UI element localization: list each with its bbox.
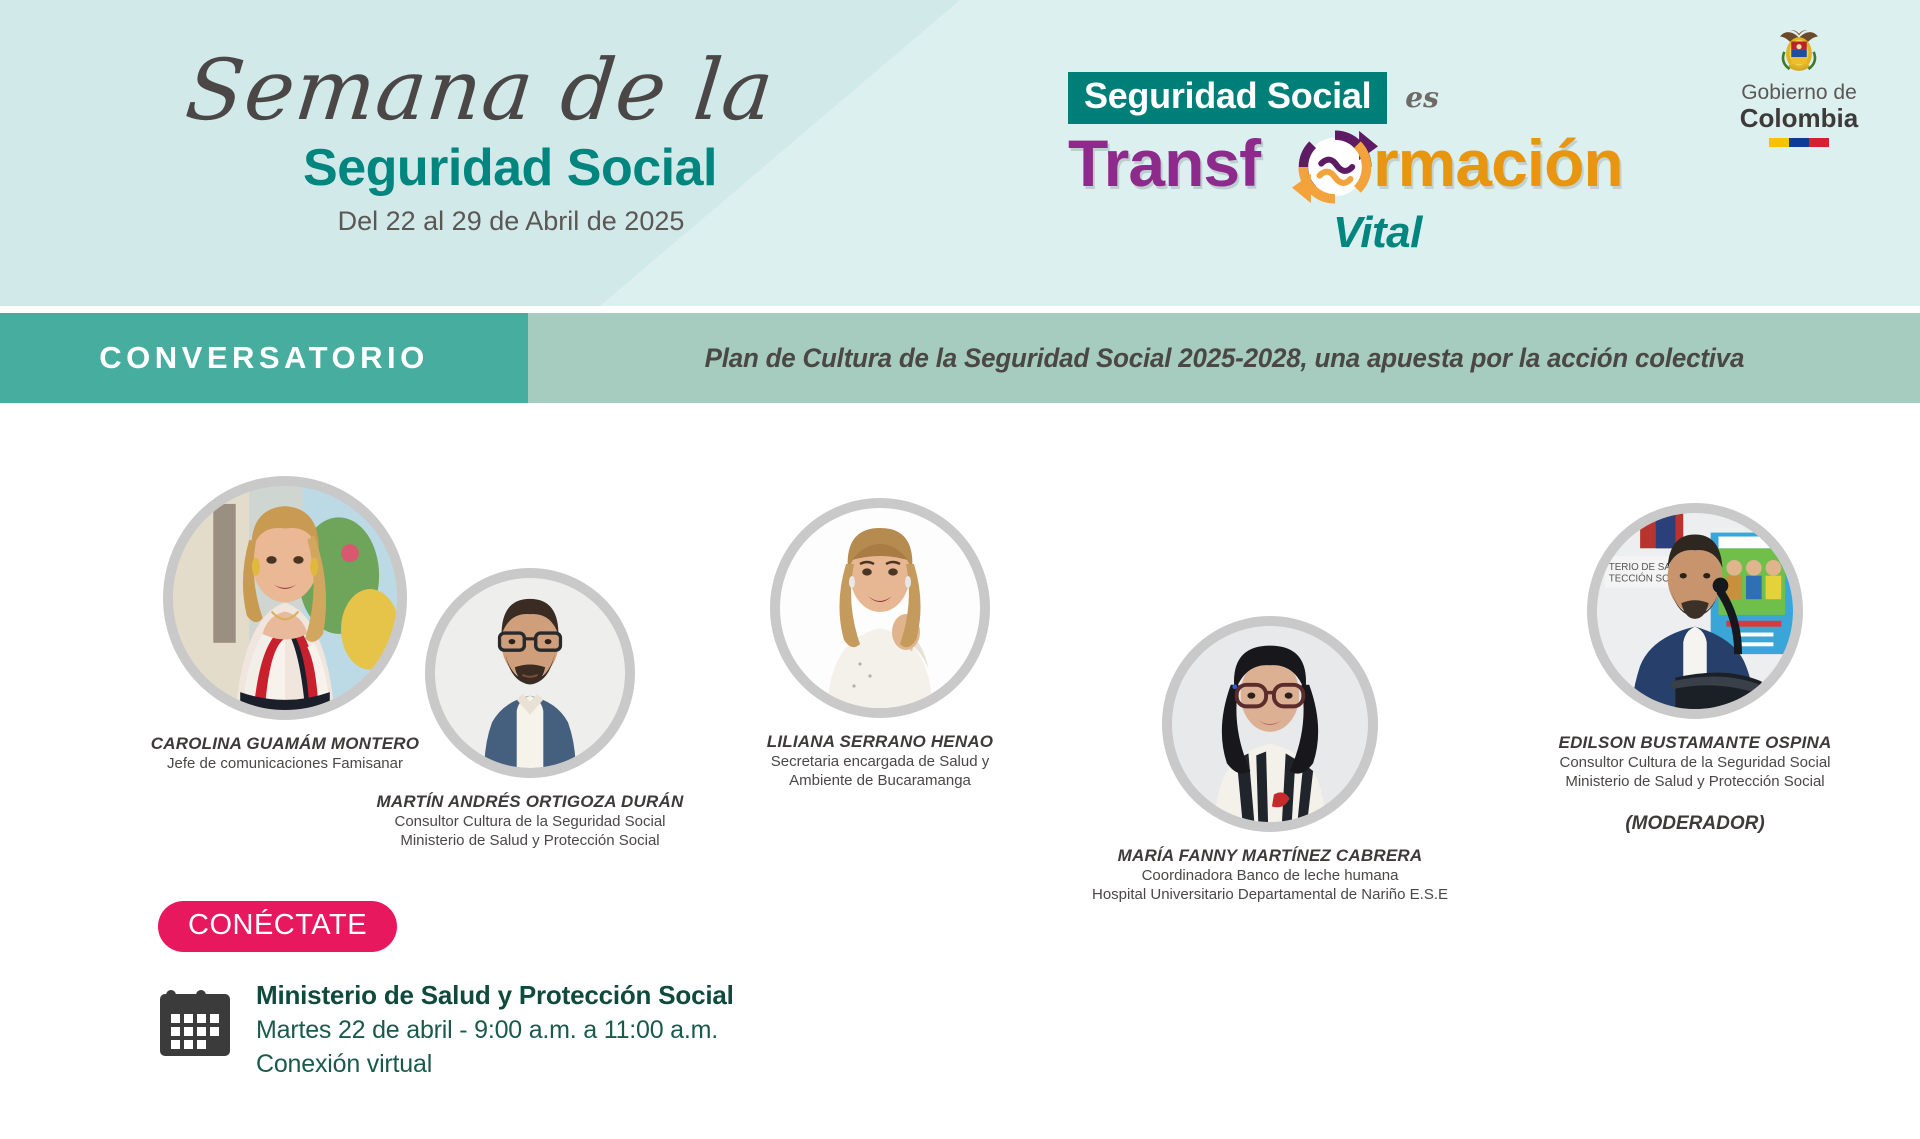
- portrait-martin-photo: [435, 578, 625, 768]
- conectate-org: Ministerio de Salud y Protección Social: [256, 980, 734, 1011]
- speaker-4-role-line-1: Coordinadora Banco de leche humana: [1020, 866, 1520, 885]
- conectate-block: CONÉCTATE Ministerio de Salud y Pro: [158, 901, 734, 1079]
- portrait-edilson: TERIO DE SALUD TECCIÓN SOCIAL: [1587, 503, 1803, 719]
- brand-top-row: Seguridad Social es: [1068, 72, 1688, 124]
- portrait-maria: [1162, 616, 1378, 832]
- speaker-card-4: MARÍA FANNY MARTÍNEZ CABRERA Coordinador…: [1020, 616, 1520, 904]
- event-subtitle: Seguridad Social: [210, 138, 810, 198]
- gobierno-de-colombia-logo: Gobierno de Colombia: [1714, 26, 1884, 147]
- transformacion-vital-logo: Seguridad Social es Transf rmación Vital: [1068, 72, 1688, 206]
- conectate-datetime: Martes 22 de abril - 9:00 a.m. a 11:00 a…: [256, 1016, 734, 1045]
- speaker-4-name: MARÍA FANNY MARTÍNEZ CABRERA: [1020, 846, 1520, 866]
- colombia-flag-icon: [1769, 138, 1829, 147]
- circular-arrows-icon: [1292, 124, 1378, 210]
- event-script-title: Semana de la: [146, 48, 815, 132]
- calendar-icon: [158, 982, 232, 1058]
- portrait-liliana-photo: [780, 508, 980, 708]
- conectate-pill: CONÉCTATE: [158, 901, 397, 952]
- speaker-5-name: EDILSON BUSTAMANTE OSPINA: [1475, 733, 1915, 753]
- brand-vital-text: Vital: [1333, 208, 1422, 258]
- portrait-martin: [425, 568, 635, 778]
- banner-label-text: CONVERSATORIO: [99, 340, 429, 376]
- speaker-5-role-line-1: Consultor Cultura de la Seguridad Social: [1475, 753, 1915, 772]
- conversatorio-banner: CONVERSATORIO Plan de Cultura de la Segu…: [0, 313, 1920, 403]
- portrait-edilson-photo: TERIO DE SALUD TECCIÓN SOCIAL: [1597, 513, 1793, 709]
- speaker-4-role-line-2: Hospital Universitario Departamental de …: [1020, 885, 1520, 904]
- gobierno-line1: Gobierno de: [1714, 82, 1884, 104]
- gobierno-line2: Colombia: [1714, 104, 1884, 133]
- speaker-3-role-line-2: Ambiente de Bucaramanga: [690, 771, 1070, 790]
- speaker-card-3: LILIANA SERRANO HENAO Secretaria encarga…: [690, 498, 1070, 790]
- speaker-2-role-line-1: Consultor Cultura de la Seguridad Social: [330, 812, 730, 831]
- conectate-text-block: Ministerio de Salud y Protección Social …: [256, 978, 734, 1079]
- speaker-card-5: TERIO DE SALUD TECCIÓN SOCIAL EDI: [1475, 503, 1915, 835]
- speaker-3-name: LILIANA SERRANO HENAO: [690, 732, 1070, 752]
- brand-transf-text: Transf: [1068, 130, 1260, 196]
- speaker-3-role-line-1: Secretaria encargada de Salud y: [690, 752, 1070, 771]
- speaker-2-name: MARTÍN ANDRÉS ORTIGOZA DURÁN: [330, 792, 730, 812]
- speaker-card-2: MARTÍN ANDRÉS ORTIGOZA DURÁN Consultor C…: [330, 568, 730, 850]
- conectate-mode: Conexión virtual: [256, 1050, 734, 1079]
- brand-chip-seguridad-social: Seguridad Social: [1068, 72, 1387, 124]
- portrait-liliana: [770, 498, 990, 718]
- event-title-block: Semana de la Seguridad Social Del 22 al …: [150, 48, 810, 237]
- speaker-2-role-line-2: Ministerio de Salud y Protección Social: [330, 831, 730, 850]
- banner-label-block: CONVERSATORIO: [0, 313, 528, 403]
- brand-transformacion-row: Transf rmación Vital: [1068, 130, 1688, 206]
- brand-rmacion-text: rmación: [1373, 130, 1623, 196]
- speaker-5-role-line-2: Ministerio de Salud y Protección Social: [1475, 772, 1915, 791]
- portrait-maria-photo: [1172, 626, 1368, 822]
- conectate-details-row: Ministerio de Salud y Protección Social …: [158, 978, 734, 1079]
- event-dates: Del 22 al 29 de Abril de 2025: [212, 206, 810, 237]
- header-banner: Semana de la Seguridad Social Del 22 al …: [0, 0, 1920, 306]
- brand-es-word: es: [1405, 81, 1439, 114]
- colombia-coat-of-arms-icon: [1773, 26, 1825, 76]
- banner-title-text: Plan de Cultura de la Seguridad Social 2…: [704, 343, 1744, 374]
- speaker-5-moderator-tag: (MODERADOR): [1475, 813, 1915, 835]
- banner-title-block: Plan de Cultura de la Seguridad Social 2…: [528, 313, 1920, 403]
